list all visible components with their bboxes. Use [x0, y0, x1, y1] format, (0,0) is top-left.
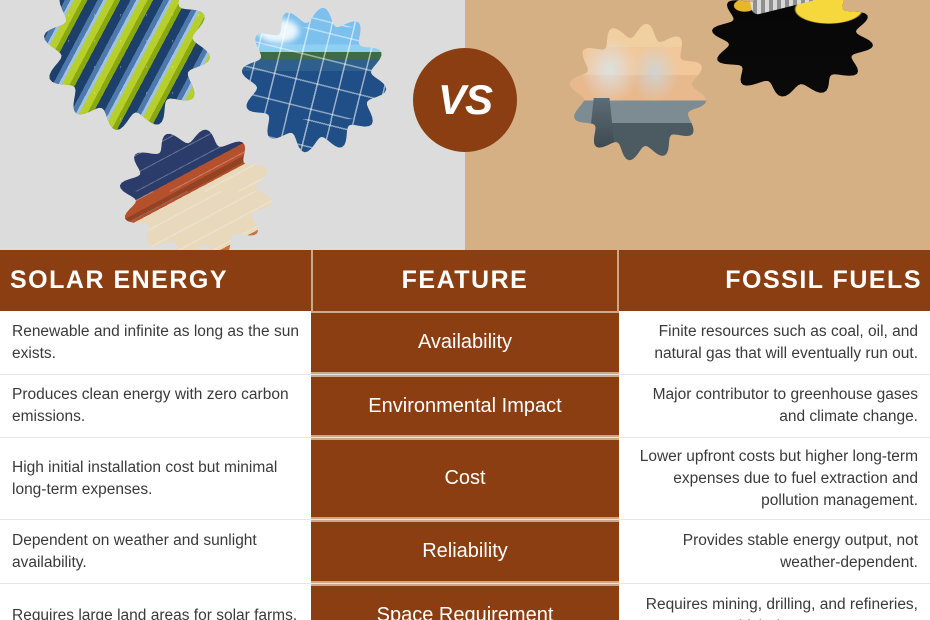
comparison-table: SOLAR ENERGY FEATURE FOSSIL FUELS Renewa…	[0, 250, 930, 620]
fossil-cell: Finite resources such as coal, oil, and …	[619, 311, 930, 374]
solar-cell: Produces clean energy with zero carbon e…	[0, 375, 311, 437]
solar-cell: Requires large land areas for solar farm…	[0, 584, 311, 620]
feature-cell: Space Requirement	[311, 584, 619, 620]
comparison-infographic: VS SOLAR ENERGY FEATURE FOSSIL FUELS Ren…	[0, 0, 930, 620]
header-fossil-fuels: FOSSIL FUELS	[619, 250, 930, 311]
vs-badge: VS	[413, 48, 517, 152]
header-feature: FEATURE	[311, 250, 619, 311]
table-row: High initial installation cost but minim…	[0, 438, 930, 520]
solar-cell: High initial installation cost but minim…	[0, 438, 311, 519]
table-row: Renewable and infinite as long as the su…	[0, 311, 930, 375]
table-row: Dependent on weather and sunlight availa…	[0, 520, 930, 584]
solar-cell: Renewable and infinite as long as the su…	[0, 311, 311, 374]
feature-cell: Reliability	[311, 520, 619, 583]
table-row: Requires large land areas for solar farm…	[0, 584, 930, 620]
solar-cell: Dependent on weather and sunlight availa…	[0, 520, 311, 583]
feature-cell: Cost	[311, 438, 619, 519]
fossil-cell: Lower upfront costs but higher long-term…	[619, 438, 930, 519]
feature-cell: Environmental Impact	[311, 375, 619, 437]
header-solar-energy: SOLAR ENERGY	[0, 250, 311, 311]
fossil-cell: Requires mining, drilling, and refinerie…	[619, 584, 930, 620]
feature-cell: Availability	[311, 311, 619, 374]
fossil-cell: Major contributor to greenhouse gases an…	[619, 375, 930, 437]
table-row: Produces clean energy with zero carbon e…	[0, 375, 930, 438]
hero-banner: VS	[0, 0, 930, 250]
table-header-row: SOLAR ENERGY FEATURE FOSSIL FUELS	[0, 250, 930, 311]
fossil-cell: Provides stable energy output, not weath…	[619, 520, 930, 583]
